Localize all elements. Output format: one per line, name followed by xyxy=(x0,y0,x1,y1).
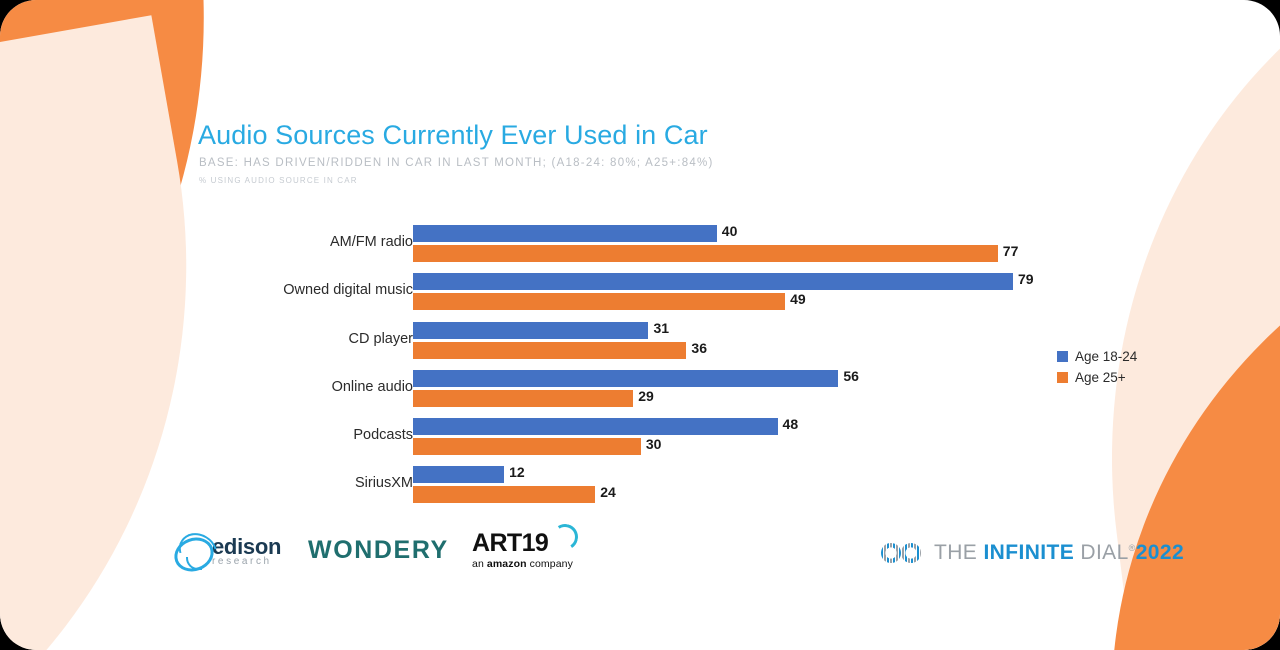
infinity-stripes-icon xyxy=(878,540,924,566)
legend-swatch-icon xyxy=(1057,372,1068,383)
bar-value-label: 12 xyxy=(509,464,525,480)
legend-label: Age 25+ xyxy=(1075,370,1126,385)
art19-wordmark: ART19 xyxy=(472,529,548,557)
bar-track: 3136 xyxy=(413,319,1018,367)
bar-value-label: 56 xyxy=(843,368,859,384)
chart-legend: Age 18-24Age 25+ xyxy=(1057,346,1137,388)
bar-track: 5629 xyxy=(413,367,1018,415)
bar-value-label: 79 xyxy=(1018,271,1034,287)
bar-value-label: 31 xyxy=(653,320,669,336)
chart-title: Audio Sources Currently Ever Used in Car xyxy=(198,120,708,151)
infinite-dial-logo: THE INFINITE DIAL®2022 xyxy=(878,540,1184,566)
bar-age-25-plus xyxy=(413,390,633,407)
bar-track: 4077 xyxy=(413,222,1018,270)
bar-value-label: 30 xyxy=(646,436,662,452)
edison-logo-tagline: research xyxy=(212,556,281,568)
bar-track: 1224 xyxy=(413,463,1018,511)
bar-chart-plot-area: AM/FM radio4077Owned digital music7949CD… xyxy=(198,222,1018,512)
infinite-dial-registered: ® xyxy=(1129,543,1136,553)
bar-group: AM/FM radio4077 xyxy=(198,222,1018,270)
art19-tagline-prefix: an xyxy=(472,558,487,570)
infinite-dial-the: THE xyxy=(934,541,983,564)
bar-value-label: 48 xyxy=(783,416,799,432)
bar-track: 4830 xyxy=(413,415,1018,463)
legend-swatch-icon xyxy=(1057,351,1068,362)
edison-orbit-icon xyxy=(172,530,216,574)
category-label: Owned digital music xyxy=(153,282,413,298)
bar-group: SiriusXM1224 xyxy=(198,463,1018,511)
infinite-dial-wordmark: THE INFINITE DIAL®2022 xyxy=(934,541,1184,565)
bar-value-label: 40 xyxy=(722,223,738,239)
infinite-dial-dial: DIAL xyxy=(1074,541,1129,564)
bar-value-label: 49 xyxy=(790,291,806,307)
bar-track: 7949 xyxy=(413,270,1018,318)
bar-value-label: 29 xyxy=(638,388,654,404)
category-label: SiriusXM xyxy=(153,475,413,491)
bar-value-label: 24 xyxy=(600,484,616,500)
chart-subtitle: BASE: HAS DRIVEN/RIDDEN IN CAR IN LAST M… xyxy=(199,157,714,169)
bar-age-25-plus xyxy=(413,438,641,455)
decorative-blob-right-orange xyxy=(1053,184,1280,650)
art19-swoosh-icon xyxy=(550,522,581,553)
legend-label: Age 18-24 xyxy=(1075,349,1137,364)
infinite-dial-year: 2022 xyxy=(1136,541,1184,564)
bar-value-label: 36 xyxy=(691,340,707,356)
art19-tagline: an amazon company xyxy=(472,558,573,570)
art19-logo-name: ART19 xyxy=(472,531,573,556)
bar-age-25-plus xyxy=(413,293,785,310)
chart-note: % USING AUDIO SOURCE IN CAR xyxy=(199,176,358,185)
bar-value-label: 77 xyxy=(1003,243,1019,259)
bar-age-25-plus xyxy=(413,486,595,503)
category-label: Podcasts xyxy=(153,427,413,443)
infinite-dial-infinite: INFINITE xyxy=(983,541,1074,564)
category-label: CD player xyxy=(153,331,413,347)
art19-tagline-brand: amazon xyxy=(487,558,527,570)
art19-tagline-suffix: company xyxy=(527,558,573,570)
bar-age-18-24 xyxy=(413,273,1013,290)
bar-age-18-24 xyxy=(413,225,717,242)
bar-group: Online audio5629 xyxy=(198,367,1018,415)
wondery-logo: WONDERY xyxy=(308,536,449,565)
legend-item[interactable]: Age 25+ xyxy=(1057,367,1137,388)
edison-research-logo: edison research xyxy=(172,530,281,574)
bar-group: CD player3136 xyxy=(198,319,1018,367)
legend-item[interactable]: Age 18-24 xyxy=(1057,346,1137,367)
category-label: Online audio xyxy=(153,379,413,395)
edison-logo-name: edison xyxy=(212,537,281,556)
slide-card: Audio Sources Currently Ever Used in Car… xyxy=(0,0,1280,650)
bar-group: Podcasts4830 xyxy=(198,415,1018,463)
bar-age-25-plus xyxy=(413,342,686,359)
bar-age-18-24 xyxy=(413,370,838,387)
bar-age-18-24 xyxy=(413,322,648,339)
bar-age-18-24 xyxy=(413,466,504,483)
bar-group: Owned digital music7949 xyxy=(198,270,1018,318)
bar-age-25-plus xyxy=(413,245,998,262)
category-label: AM/FM radio xyxy=(153,234,413,250)
art19-logo: ART19 an amazon company xyxy=(472,531,573,570)
bar-age-18-24 xyxy=(413,418,778,435)
